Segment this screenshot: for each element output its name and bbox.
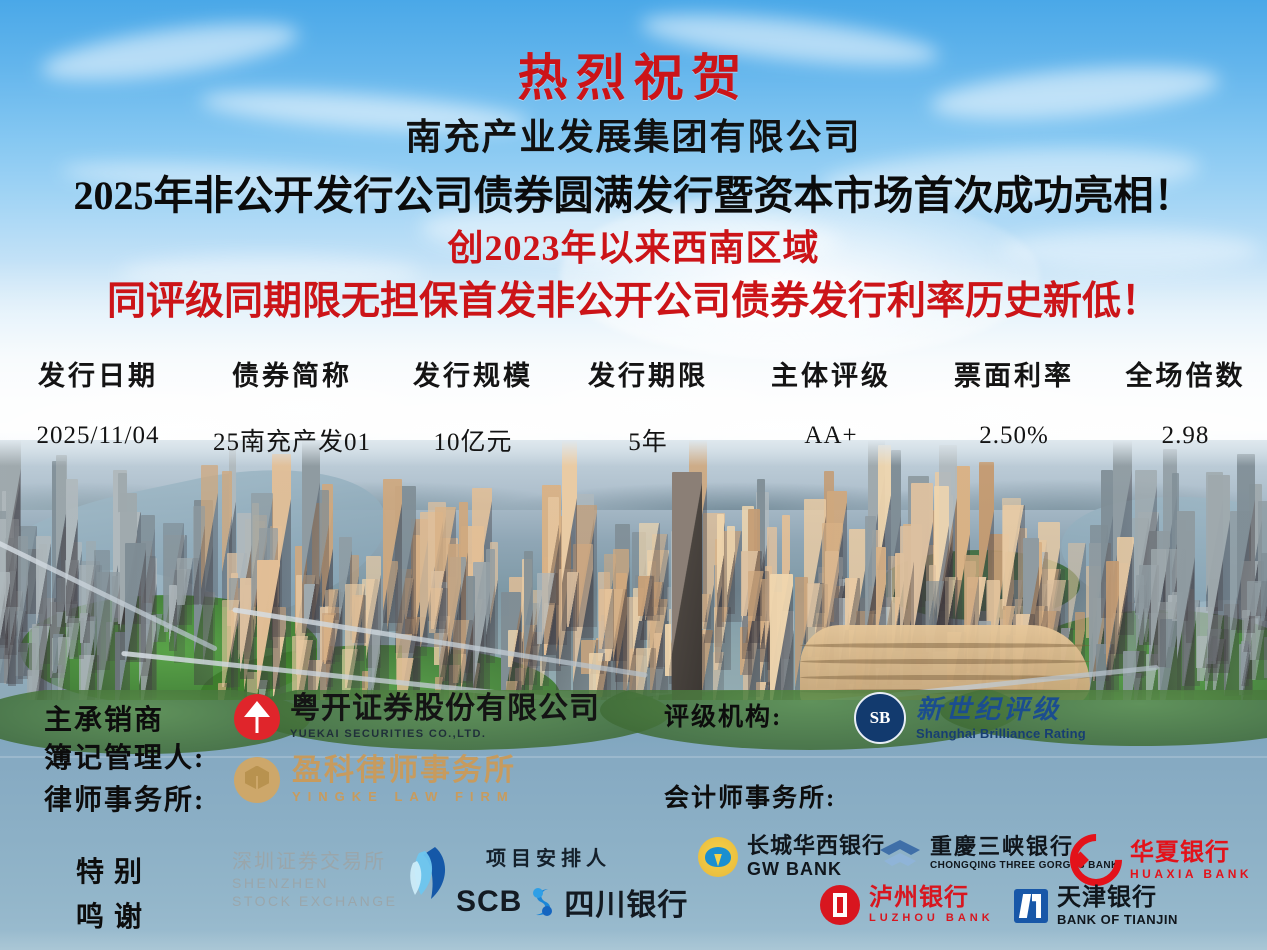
table-header-row: 发行日期 债券简称 发行规模 发行期限 主体评级 票面利率 全场倍数 bbox=[0, 348, 1267, 393]
building bbox=[1117, 537, 1134, 635]
label-special-thanks-line2: 鸣谢 bbox=[76, 895, 152, 935]
huaxia-name-cn: 华夏银行 bbox=[1130, 841, 1252, 865]
label-accounting-firm: 会计师事务所: bbox=[664, 778, 836, 814]
cqtg-mountain-icon bbox=[878, 838, 922, 870]
building bbox=[1003, 505, 1025, 606]
tianjin-mark-icon bbox=[1014, 889, 1048, 923]
luzhou-name-en: LUZHOU BANK bbox=[869, 913, 994, 924]
column-header-issue-size: 发行规模 bbox=[388, 348, 558, 393]
scb-helix-icon bbox=[530, 887, 556, 917]
building bbox=[169, 585, 177, 651]
label-project-arranger: 项目安排人 bbox=[486, 842, 611, 871]
headline-record-line1: 创2023年以来西南区域 bbox=[0, 219, 1267, 271]
building bbox=[1136, 575, 1145, 678]
building bbox=[727, 526, 735, 614]
building bbox=[80, 613, 90, 643]
column-header-issue-date: 发行日期 bbox=[0, 348, 196, 393]
huaxia-bank-logo: 华夏银行 HUAXIA BANK bbox=[1070, 834, 1252, 886]
building bbox=[701, 594, 711, 629]
cell-bond-short-name: 25南充产发01 bbox=[196, 393, 388, 458]
headline-issuance: 2025年非公开发行公司债券圆满发行暨资本市场首次成功亮相！ bbox=[0, 163, 1267, 221]
cell-issuer-rating: AA+ bbox=[738, 393, 924, 458]
building bbox=[638, 576, 654, 616]
cell-issue-date: 2025/11/04 bbox=[0, 393, 196, 458]
building bbox=[0, 572, 10, 659]
luzhou-mark-icon bbox=[820, 885, 860, 925]
label-law-firm: 律师事务所: bbox=[44, 778, 205, 818]
building bbox=[387, 561, 398, 632]
building bbox=[599, 589, 614, 649]
column-header-tenor: 发行期限 bbox=[558, 348, 738, 393]
szse-name-en-line2: STOCK EXCHANGE bbox=[232, 893, 397, 909]
szse-wing-icon bbox=[405, 845, 449, 901]
column-header-bond-short-name: 债券简称 bbox=[196, 348, 388, 393]
brilliance-seal-icon: SB bbox=[854, 692, 906, 744]
building bbox=[345, 584, 364, 688]
building bbox=[319, 490, 330, 607]
column-header-oversubscription: 全场倍数 bbox=[1104, 348, 1267, 393]
building bbox=[567, 572, 579, 628]
bond-summary-table: 发行日期 债券简称 发行规模 发行期限 主体评级 票面利率 全场倍数 2025/… bbox=[0, 348, 1267, 458]
building bbox=[429, 588, 448, 633]
building bbox=[292, 636, 313, 692]
great-wall-west-china-bank-logo: 长城华西银行 GW BANK bbox=[698, 835, 885, 878]
column-header-coupon-rate: 票面利率 bbox=[924, 348, 1104, 393]
cell-tenor: 5年 bbox=[558, 393, 738, 458]
building bbox=[304, 584, 319, 619]
table-row: 2025/11/04 25南充产发01 10亿元 5年 AA+ 2.50% 2.… bbox=[0, 393, 1267, 458]
yuekai-name-cn: 粤开证券股份有限公司 bbox=[290, 694, 600, 724]
yuekai-name-en: YUEKAI SECURITIES CO.,LTD. bbox=[290, 729, 600, 740]
landmark-tower bbox=[672, 472, 702, 700]
tianjin-name-cn: 天津银行 bbox=[1057, 886, 1178, 910]
szse-name-cn: 深圳证券交易所 bbox=[232, 852, 397, 872]
building bbox=[508, 630, 521, 667]
yingke-name-en: YINGKE LAW FIRM bbox=[292, 790, 516, 803]
szse-name-en-line1: SHENZHEN bbox=[232, 875, 397, 891]
yuekai-mark-icon bbox=[234, 694, 280, 740]
poster-canvas: 热烈祝贺 南充产业发展集团有限公司 2025年非公开发行公司债券圆满发行暨资本市… bbox=[0, 0, 1267, 950]
yingke-name-cn: 盈科律师事务所 bbox=[292, 756, 516, 786]
building bbox=[1177, 511, 1194, 692]
bank-of-tianjin-logo: 天津银行 BANK OF TIANJIN bbox=[1014, 886, 1178, 926]
headline-record-line2: 同评级同期限无担保首发非公开公司债券发行利率历史新低！ bbox=[0, 270, 1267, 326]
scb-abbrev: SCB bbox=[456, 885, 522, 919]
building bbox=[654, 582, 664, 615]
shanghai-brilliance-rating-logo: SB 新世纪评级 Shanghai Brilliance Rating bbox=[854, 692, 1086, 744]
label-rating-agency: 评级机构: bbox=[664, 697, 782, 733]
gwbank-name-en: GW BANK bbox=[747, 860, 885, 878]
building bbox=[222, 600, 240, 687]
yingke-law-firm-logo: 盈科律师事务所 YINGKE LAW FIRM bbox=[234, 756, 516, 803]
label-special-thanks-line1: 特别 bbox=[76, 850, 152, 890]
building bbox=[717, 514, 724, 626]
company-name: 南充产业发展集团有限公司 bbox=[0, 108, 1267, 160]
scb-name-cn: 四川银行 bbox=[564, 880, 688, 924]
building bbox=[524, 551, 534, 708]
gwbank-name-cn: 长城华西银行 bbox=[747, 835, 885, 857]
brilliance-name-en: Shanghai Brilliance Rating bbox=[916, 727, 1086, 740]
label-lead-underwriter: 主承销商 bbox=[44, 698, 164, 738]
building bbox=[748, 571, 769, 622]
building bbox=[807, 583, 824, 627]
building bbox=[448, 544, 462, 685]
yingke-cube-icon bbox=[234, 757, 280, 803]
building bbox=[537, 573, 558, 644]
building bbox=[1242, 610, 1251, 652]
building bbox=[613, 549, 629, 672]
bottom-fade bbox=[0, 930, 1267, 950]
cell-issue-size: 10亿元 bbox=[388, 393, 558, 458]
yuekai-securities-logo: 粤开证券股份有限公司 YUEKAI SECURITIES CO.,LTD. bbox=[234, 694, 600, 740]
building bbox=[576, 505, 597, 627]
cell-oversubscription: 2.98 bbox=[1104, 393, 1267, 458]
luzhou-bank-logo: 泸州银行 LUZHOU BANK bbox=[820, 885, 994, 925]
building bbox=[193, 506, 205, 604]
tianjin-name-en: BANK OF TIANJIN bbox=[1057, 913, 1178, 926]
building bbox=[1151, 549, 1165, 667]
sichuan-bank-logo: SCB 四川银行 bbox=[456, 880, 688, 924]
luzhou-name-cn: 泸州银行 bbox=[869, 886, 994, 910]
brilliance-name-cn: 新世纪评级 bbox=[916, 697, 1086, 723]
column-header-issuer-rating: 主体评级 bbox=[738, 348, 924, 393]
building bbox=[1208, 475, 1230, 673]
building bbox=[36, 536, 51, 626]
shenzhen-stock-exchange-logo: 深圳证券交易所 SHENZHEN STOCK EXCHANGE bbox=[232, 852, 449, 909]
building bbox=[1261, 553, 1267, 621]
label-bookrunner: 簿记管理人: bbox=[44, 736, 205, 776]
building bbox=[486, 549, 495, 664]
building bbox=[845, 578, 860, 630]
building bbox=[66, 479, 78, 616]
gwbank-mark-icon bbox=[698, 837, 738, 877]
cell-coupon-rate: 2.50% bbox=[924, 393, 1104, 458]
congratulations-title: 热烈祝贺 bbox=[0, 38, 1267, 110]
building bbox=[94, 550, 109, 670]
huaxia-name-en: HUAXIA BANK bbox=[1130, 868, 1252, 880]
